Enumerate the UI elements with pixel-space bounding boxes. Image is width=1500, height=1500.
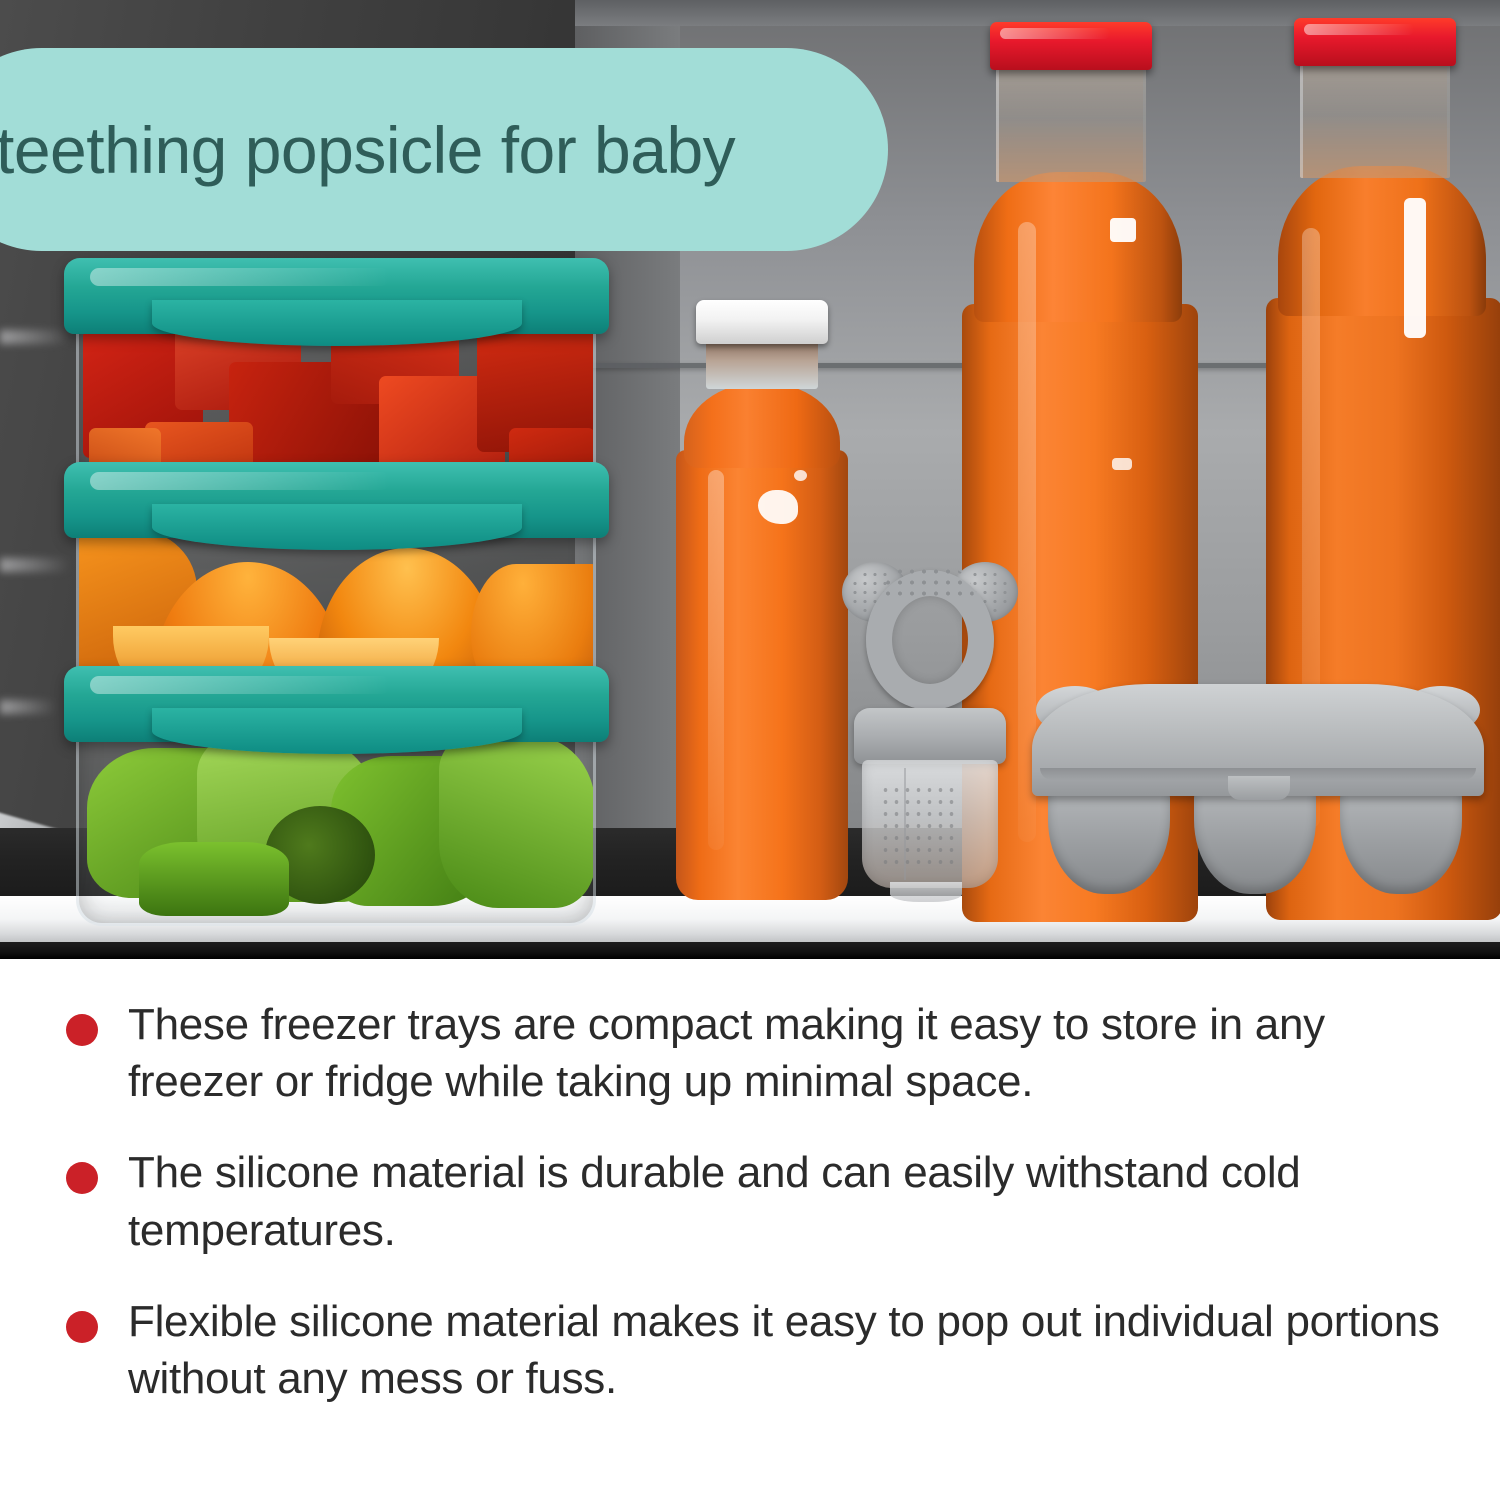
tray-cavity: [1048, 788, 1170, 894]
feature-list: These freezer trays are compact making i…: [0, 978, 1500, 1500]
bottle-neck: [706, 341, 818, 389]
bottle-cap-red: [1294, 18, 1456, 66]
fridge-shelf-lip: [0, 942, 1500, 959]
stacked-glass-containers: [64, 258, 624, 898]
container-lid-teal: [64, 666, 609, 742]
list-item: Flexible silicone material makes it easy…: [0, 1293, 1500, 1407]
tray-cavity: [1194, 788, 1316, 894]
fridge-wall-highlight: [0, 330, 70, 344]
bullet-dot-icon: [66, 1311, 98, 1343]
container-lid-teal: [64, 462, 609, 538]
product-photo: teething popsicle for baby: [0, 0, 1500, 978]
headline-text: teething popsicle for baby: [0, 117, 735, 183]
bottle-shoulder: [684, 382, 840, 468]
list-item: These freezer trays are compact making i…: [0, 996, 1500, 1110]
headline-banner: teething popsicle for baby: [0, 48, 888, 251]
fridge-shelf-underside: [0, 959, 1500, 978]
feature-text: Flexible silicone material makes it easy…: [128, 1293, 1440, 1407]
fridge-wall-highlight: [0, 700, 56, 714]
bottle-shoulder: [974, 172, 1182, 322]
bottle-specular: [1112, 458, 1132, 470]
bottle-cap-red: [990, 22, 1152, 70]
bottle-neck: [1300, 63, 1450, 178]
bear-silicone-popsicle-tray: [1032, 684, 1484, 902]
tray-cavity: [1340, 788, 1462, 894]
bullet-dot-icon: [66, 1162, 98, 1194]
bullet-dot-icon: [66, 1014, 98, 1046]
feeder-tip: [890, 882, 962, 902]
small-juice-bottle: [672, 300, 850, 900]
bottle-specular: [1404, 198, 1426, 338]
feature-text: The silicone material is durable and can…: [128, 1144, 1440, 1258]
feeder-pouch: [862, 760, 998, 888]
list-item: The silicone material is durable and can…: [0, 1144, 1500, 1258]
feature-text: These freezer trays are compact making i…: [128, 996, 1440, 1110]
bottle-cap-white: [696, 300, 828, 344]
bear-teething-feeder: [840, 556, 1020, 906]
teether-ring-texture: [882, 566, 974, 598]
feeder-pouch-holes: [880, 784, 956, 868]
feeder-collar: [854, 708, 1006, 764]
bottle-body: [676, 450, 848, 900]
fridge-wall-highlight: [0, 558, 70, 572]
container-lid-teal: [64, 258, 609, 334]
juice-splash: [794, 470, 807, 481]
bottle-neck: [996, 67, 1146, 182]
tray-lid-tab: [1228, 776, 1290, 800]
bottle-highlight: [708, 470, 724, 850]
bottle-specular: [1110, 218, 1136, 242]
